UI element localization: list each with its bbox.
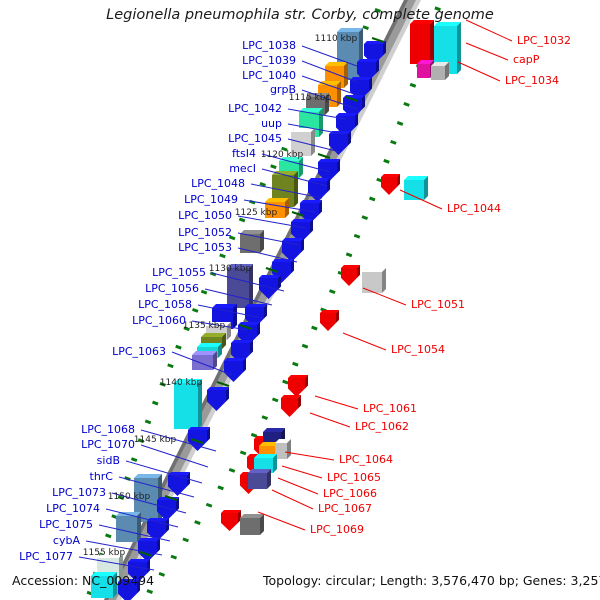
tick-dot — [312, 327, 318, 329]
axis-tick-label: 1150 kbp — [108, 492, 151, 502]
tick-dot — [106, 535, 112, 537]
leader-line — [282, 466, 322, 478]
tick-dot — [330, 291, 336, 293]
gene-feature-box[interactable] — [404, 176, 428, 200]
gene-label-left[interactable]: LPC_1077 — [19, 550, 73, 563]
gene-label-right[interactable]: LPC_1067 — [318, 502, 372, 515]
gene-label-left[interactable]: LPC_1042 — [228, 102, 282, 115]
gene-label-left[interactable]: LPC_1052 — [178, 226, 232, 239]
page-title: Legionella pneumophila str. Corby, compl… — [106, 7, 494, 23]
gene-label-left[interactable]: LPC_1040 — [242, 69, 296, 82]
gene-label-left[interactable]: LPC_1049 — [184, 193, 238, 206]
gene-label-right[interactable]: LPC_1062 — [355, 420, 409, 433]
genome-map-viewer: 1110 kbp1115 kbp1120 kbp1125 kbp1130 kbp… — [0, 0, 600, 600]
leader-line — [278, 478, 318, 494]
gene-label-right[interactable]: capP — [513, 53, 540, 66]
axis-tick-label: 1120 kbp — [261, 150, 304, 160]
gene-label-right[interactable]: LPC_1054 — [391, 343, 445, 356]
tick-dot — [397, 122, 403, 124]
axis-tick-label: 1135 kbp — [183, 321, 226, 331]
gene-label-left[interactable]: LPC_1045 — [228, 132, 282, 145]
gene-label-left[interactable]: mecI — [229, 162, 256, 175]
leader-line — [363, 288, 406, 305]
gene-label-left[interactable]: LPC_1055 — [152, 266, 206, 279]
gene-label-left[interactable]: LPC_1038 — [242, 39, 296, 52]
axis-tick-label: 1140 kbp — [160, 378, 203, 388]
tick-dot — [363, 27, 369, 29]
tick-dot — [147, 591, 153, 593]
leader-line — [285, 452, 334, 460]
gene-label-right[interactable]: LPC_1069 — [310, 523, 364, 536]
tick-dot — [159, 573, 165, 575]
tick-dot — [251, 434, 257, 436]
tick-dot — [192, 309, 198, 311]
gene-label-left[interactable]: LPC_1050 — [178, 209, 232, 222]
gene-feature-box[interactable] — [410, 20, 434, 64]
leader-line — [466, 20, 512, 41]
gene-feature-arrow[interactable] — [320, 310, 339, 331]
tick-dot — [220, 255, 226, 257]
gene-label-right[interactable]: LPC_1065 — [327, 471, 381, 484]
tick-dot — [171, 556, 177, 558]
gene-label-right[interactable]: LPC_1034 — [505, 74, 559, 87]
tick-dot — [283, 381, 289, 383]
tick-dot — [229, 469, 235, 471]
gene-label-left[interactable]: thrC — [90, 470, 114, 483]
leader-line — [258, 512, 305, 530]
tick-dot — [153, 402, 159, 404]
accession-label: Accession: NC_009494 — [12, 573, 154, 588]
leader-line — [272, 490, 313, 509]
gene-label-right[interactable]: LPC_1064 — [339, 453, 393, 466]
axis-tick-label: 1145 kbp — [134, 435, 177, 445]
tick-dot — [293, 363, 299, 365]
tick-dot — [195, 522, 201, 524]
genome-map-canvas[interactable]: 1110 kbp1115 kbp1120 kbp1125 kbp1130 kbp… — [0, 0, 600, 600]
gene-label-left[interactable]: LPC_1063 — [112, 345, 166, 358]
gene-label-left[interactable]: LPC_1058 — [138, 298, 192, 311]
gene-label-right[interactable]: LPC_1061 — [363, 402, 417, 415]
gene-label-right[interactable]: LPC_1032 — [517, 34, 571, 47]
tick-dot — [391, 141, 397, 143]
tick-dot — [183, 539, 189, 541]
leader-line — [343, 333, 386, 350]
tick-dot — [206, 504, 212, 506]
gene-feature-box[interactable] — [275, 439, 291, 459]
gene-feature-arrow[interactable] — [281, 395, 301, 417]
tick-dot — [176, 346, 182, 348]
leader-line — [315, 396, 358, 409]
tick-dot — [369, 198, 375, 200]
gene-label-left[interactable]: uup — [261, 117, 282, 130]
axis-tick-label: 1110 kbp — [315, 34, 358, 44]
gene-feature-box[interactable] — [431, 62, 449, 80]
gene-label-left[interactable]: LPC_1075 — [39, 518, 93, 531]
gene-label-left[interactable]: LPC_1073 — [52, 486, 106, 499]
gene-feature-arrow[interactable] — [341, 265, 360, 286]
gene-label-left[interactable]: LPC_1068 — [81, 423, 135, 436]
axis-tick-label: 1125 kbp — [235, 208, 278, 218]
tick-dot — [410, 84, 416, 86]
gene-label-left[interactable]: sidB — [97, 454, 120, 467]
axis-tick-label: 1155 kbp — [83, 548, 126, 558]
tick-dot — [218, 487, 224, 489]
tick-dot — [260, 183, 266, 185]
gene-feature-arrow[interactable] — [288, 375, 308, 397]
tick-dot — [239, 219, 245, 221]
gene-label-left[interactable]: ftsI4 — [232, 147, 256, 160]
axis-tick-label: 1130 kbp — [209, 264, 252, 274]
tick-dot — [362, 217, 368, 219]
leader-line — [466, 43, 508, 60]
gene-label-left[interactable]: LPC_1048 — [191, 177, 245, 190]
tick-dot — [262, 417, 268, 419]
tick-dot — [168, 365, 174, 367]
gene-feature-box[interactable] — [248, 469, 271, 489]
gene-label-left[interactable]: LPC_1074 — [46, 502, 100, 515]
leader-line — [458, 62, 500, 81]
gene-feature-box[interactable] — [192, 351, 217, 370]
gene-label-left[interactable]: LPC_1056 — [145, 282, 199, 295]
gene-label-right[interactable]: LPC_1044 — [447, 202, 501, 215]
tick-dot — [346, 254, 352, 256]
tick-dot — [201, 291, 207, 293]
tick-dot — [145, 421, 151, 423]
gene-feature-arrow[interactable] — [221, 510, 241, 531]
tick-dot — [354, 235, 360, 237]
gene-label-left[interactable]: LPC_1070 — [81, 438, 135, 451]
gene-label-left[interactable]: LPC_1039 — [242, 54, 296, 67]
gene-label-left[interactable]: grpB — [270, 83, 296, 96]
tick-dot — [271, 166, 277, 168]
gene-label-right[interactable]: LPC_1066 — [323, 487, 377, 500]
leader-line — [310, 413, 350, 427]
gene-label-left[interactable]: LPC_1060 — [132, 314, 186, 327]
gene-feature-box[interactable] — [240, 514, 264, 535]
tick-dot — [131, 459, 137, 461]
tick-dot — [240, 452, 246, 454]
tick-dot — [272, 399, 278, 401]
gene-label-left[interactable]: cybA — [53, 534, 81, 547]
gene-label-right[interactable]: LPC_1051 — [411, 298, 465, 311]
gene-feature-arrow[interactable] — [381, 174, 400, 195]
tick-dot — [384, 160, 390, 162]
tick-dot — [302, 345, 308, 347]
tick-dot — [404, 103, 410, 105]
gene-label-left[interactable]: LPC_1053 — [178, 241, 232, 254]
genome-summary: Topology: circular; Length: 3,576,470 bp… — [262, 573, 600, 588]
